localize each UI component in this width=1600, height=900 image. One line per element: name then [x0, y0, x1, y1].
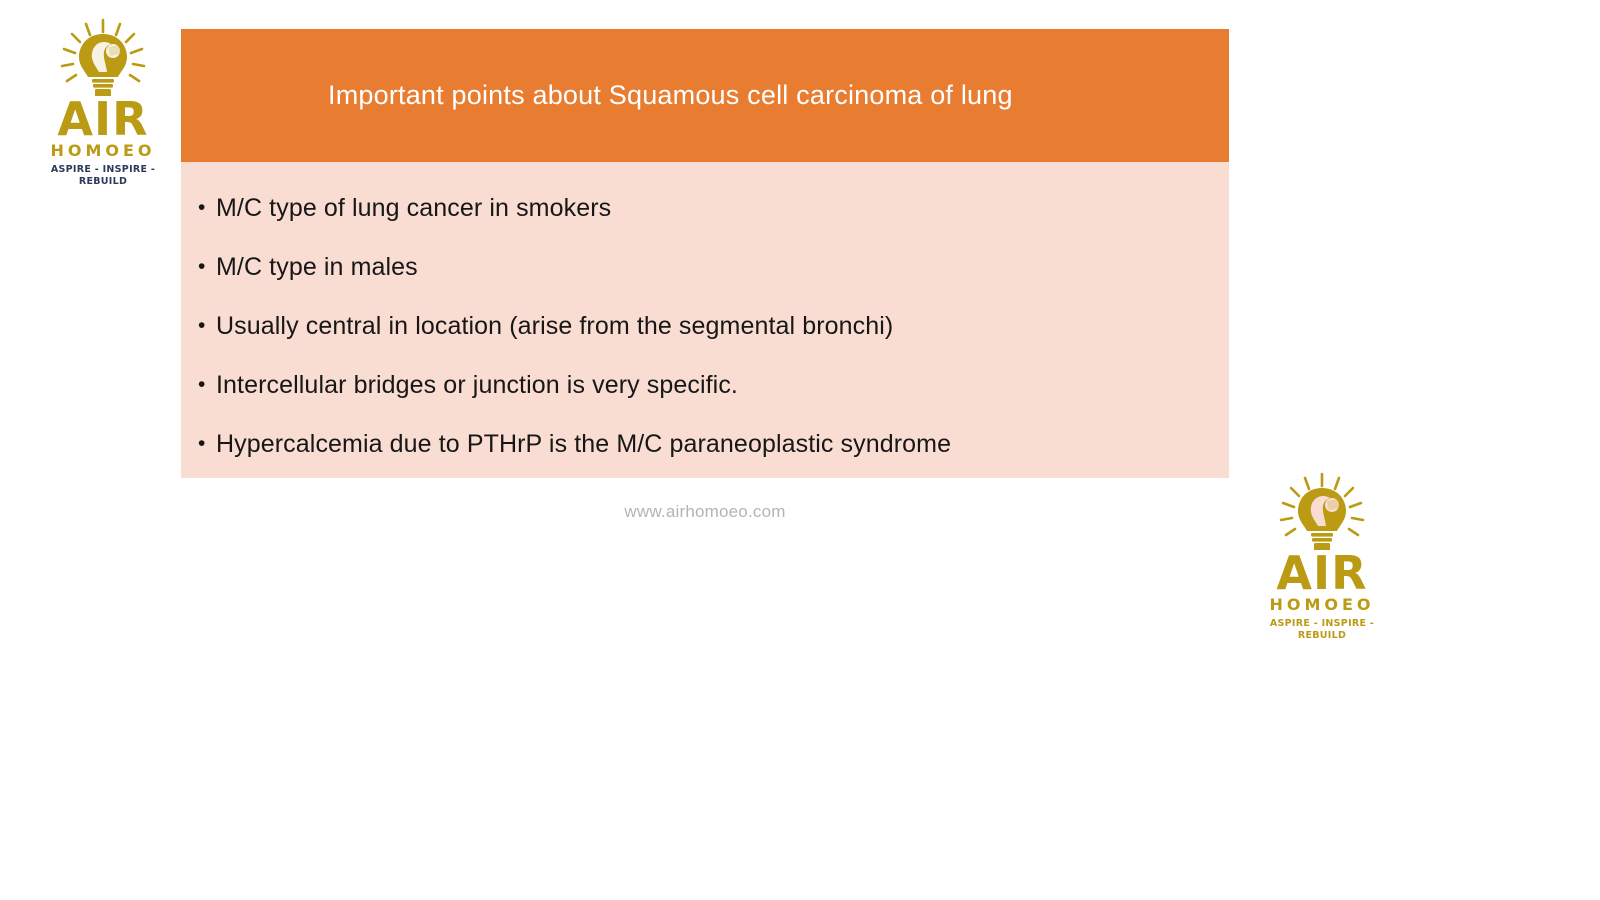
brand-logo-primary: AIR HOMOEO ASPIRE - INSPIRE - REBUILD — [37, 18, 169, 168]
page-title: Important points about Squamous cell car… — [181, 80, 1013, 111]
logo-brand-a: A — [57, 92, 94, 146]
logo-brand-text: AIR — [1256, 548, 1388, 598]
bullet-dot-icon: • — [198, 193, 216, 223]
list-item-label: Hypercalcemia due to PTHrP is the M/C pa… — [216, 429, 951, 459]
list-item: • Hypercalcemia due to PTHrP is the M/C … — [181, 414, 1229, 473]
lightbulb-idea-icon — [1256, 472, 1388, 554]
list-item-label: M/C type in males — [216, 252, 418, 282]
bullet-dot-icon: • — [198, 429, 216, 459]
bullet-dot-icon: • — [198, 252, 216, 282]
logo-brand-r: R — [112, 92, 148, 146]
bullet-dot-icon: • — [198, 311, 216, 341]
logo-subtitle: HOMOEO — [1256, 596, 1388, 614]
brand-logo-watermark: AIR HOMOEO ASPIRE - INSPIRE - REBUILD — [1256, 472, 1388, 622]
list-item: • Intercellular bridges or junction is v… — [181, 355, 1229, 414]
lightbulb-idea-icon — [37, 18, 169, 100]
footer-website-url: www.airhomoeo.com — [181, 502, 1229, 522]
content-card: Important points about Squamous cell car… — [181, 29, 1229, 478]
logo-brand-r: R — [1331, 546, 1367, 600]
logo-tagline: ASPIRE - INSPIRE - REBUILD — [37, 164, 169, 188]
logo-brand-i: I — [1313, 548, 1331, 598]
bullet-list: • M/C type of lung cancer in smokers • M… — [181, 178, 1229, 473]
logo-brand-a: A — [1276, 546, 1313, 600]
list-item-label: M/C type of lung cancer in smokers — [216, 193, 611, 223]
logo-brand-i: I — [94, 94, 112, 144]
logo-subtitle: HOMOEO — [37, 142, 169, 160]
list-item: • Usually central in location (arise fro… — [181, 296, 1229, 355]
card-body: AIR HOMOEO ASPIRE - INSPIRE - REBUILD • … — [181, 162, 1229, 478]
logo-tagline: ASPIRE - INSPIRE - REBUILD — [1256, 618, 1388, 642]
list-item: • M/C type of lung cancer in smokers — [181, 178, 1229, 237]
list-item-label: Intercellular bridges or junction is ver… — [216, 370, 738, 400]
card-header: Important points about Squamous cell car… — [181, 29, 1229, 162]
logo-brand-text: AIR — [37, 94, 169, 144]
list-item-label: Usually central in location (arise from … — [216, 311, 893, 341]
list-item: • M/C type in males — [181, 237, 1229, 296]
bullet-dot-icon: • — [198, 370, 216, 400]
